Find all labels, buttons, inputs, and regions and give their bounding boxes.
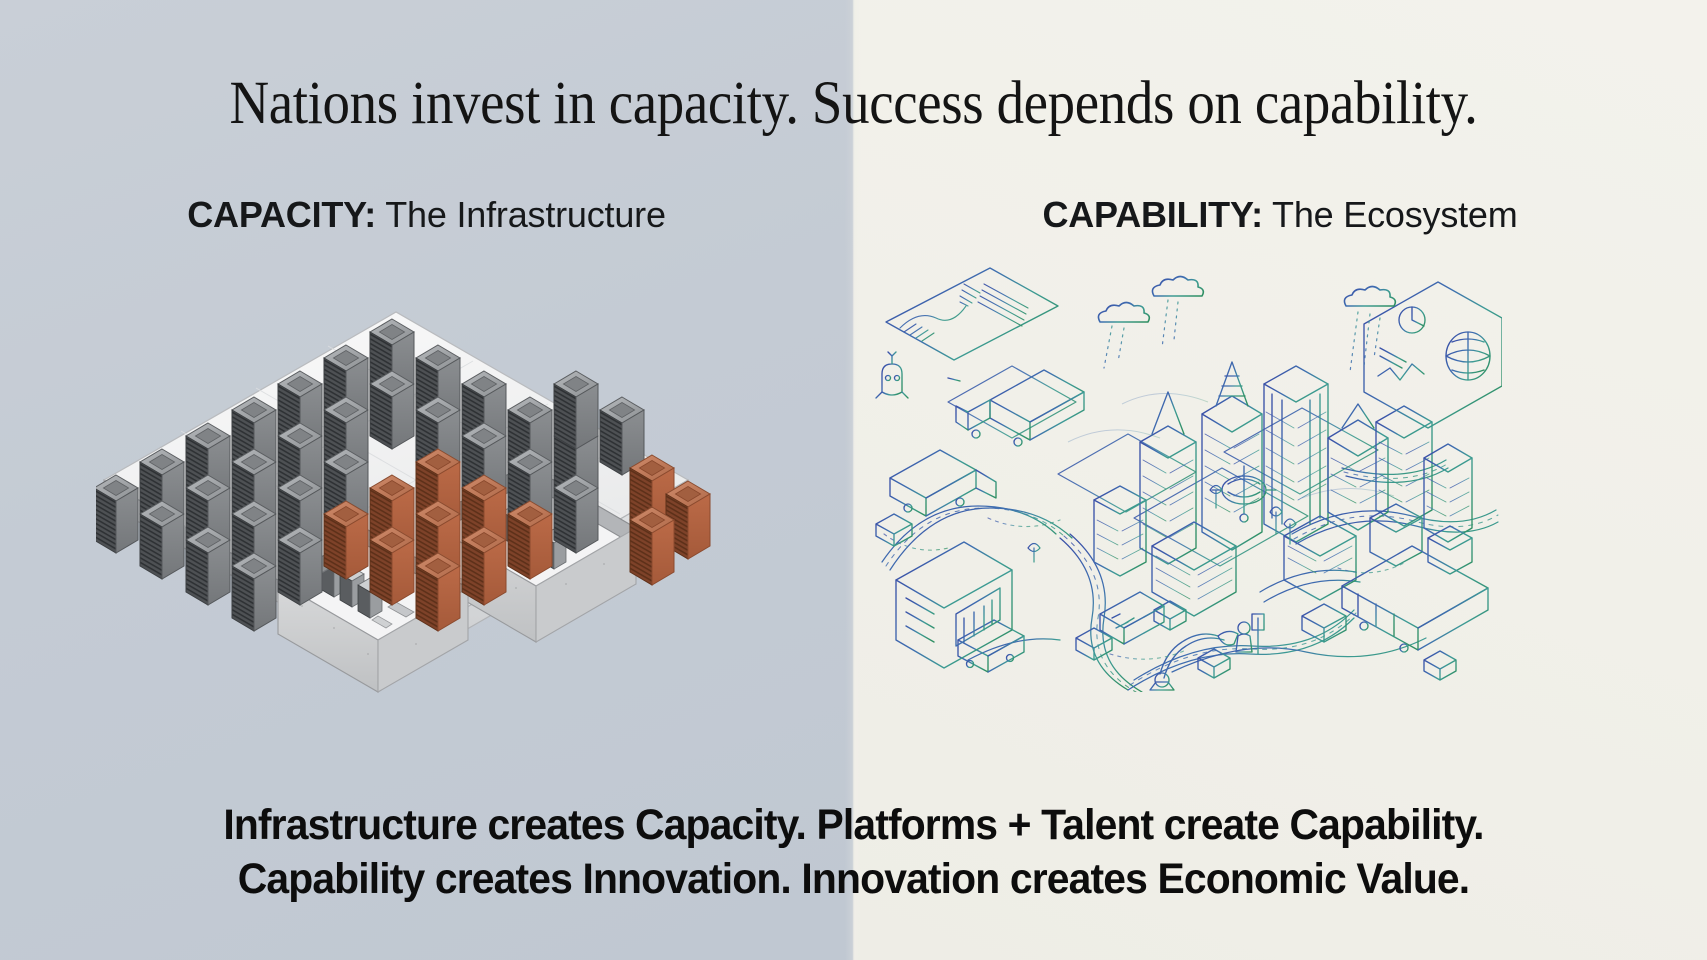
cloud-nodes [1098, 277, 1395, 323]
caption-line-2: Capability creates Innovation. Innovatio… [43, 852, 1665, 906]
analytics-billboard-left [886, 268, 1058, 381]
slide-canvas: Nations invest in capacity. Success depe… [0, 0, 1707, 960]
right-heading-tail: The Ecosystem [1263, 194, 1518, 235]
left-heading-lead: CAPACITY: [187, 194, 376, 235]
container-truck-right [1342, 546, 1488, 652]
left-heading-tail: The Infrastructure [376, 194, 666, 235]
right-column-heading: CAPABILITY: The Ecosystem [853, 193, 1707, 236]
datacenter-illustration [96, 272, 716, 702]
summary-caption: Infrastructure creates Capacity. Platfor… [43, 798, 1665, 906]
street-furniture [1028, 486, 1296, 563]
road-network [882, 460, 1498, 692]
ecosystem-city-illustration [872, 262, 1502, 692]
caption-line-1: Infrastructure creates Capacity. Platfor… [43, 798, 1665, 852]
analytics-dashboard-right [1364, 282, 1502, 428]
ai-chip-node [1212, 466, 1276, 522]
page-title: Nations invest in capacity. Success depe… [85, 72, 1621, 135]
van-bottom [958, 620, 1024, 672]
skyline-towers [1094, 286, 1472, 616]
logistics-hub [896, 542, 1012, 668]
right-heading-lead: CAPABILITY: [1042, 194, 1262, 235]
service-robot [876, 352, 908, 398]
left-column-heading: CAPACITY: The Infrastructure [0, 193, 853, 236]
